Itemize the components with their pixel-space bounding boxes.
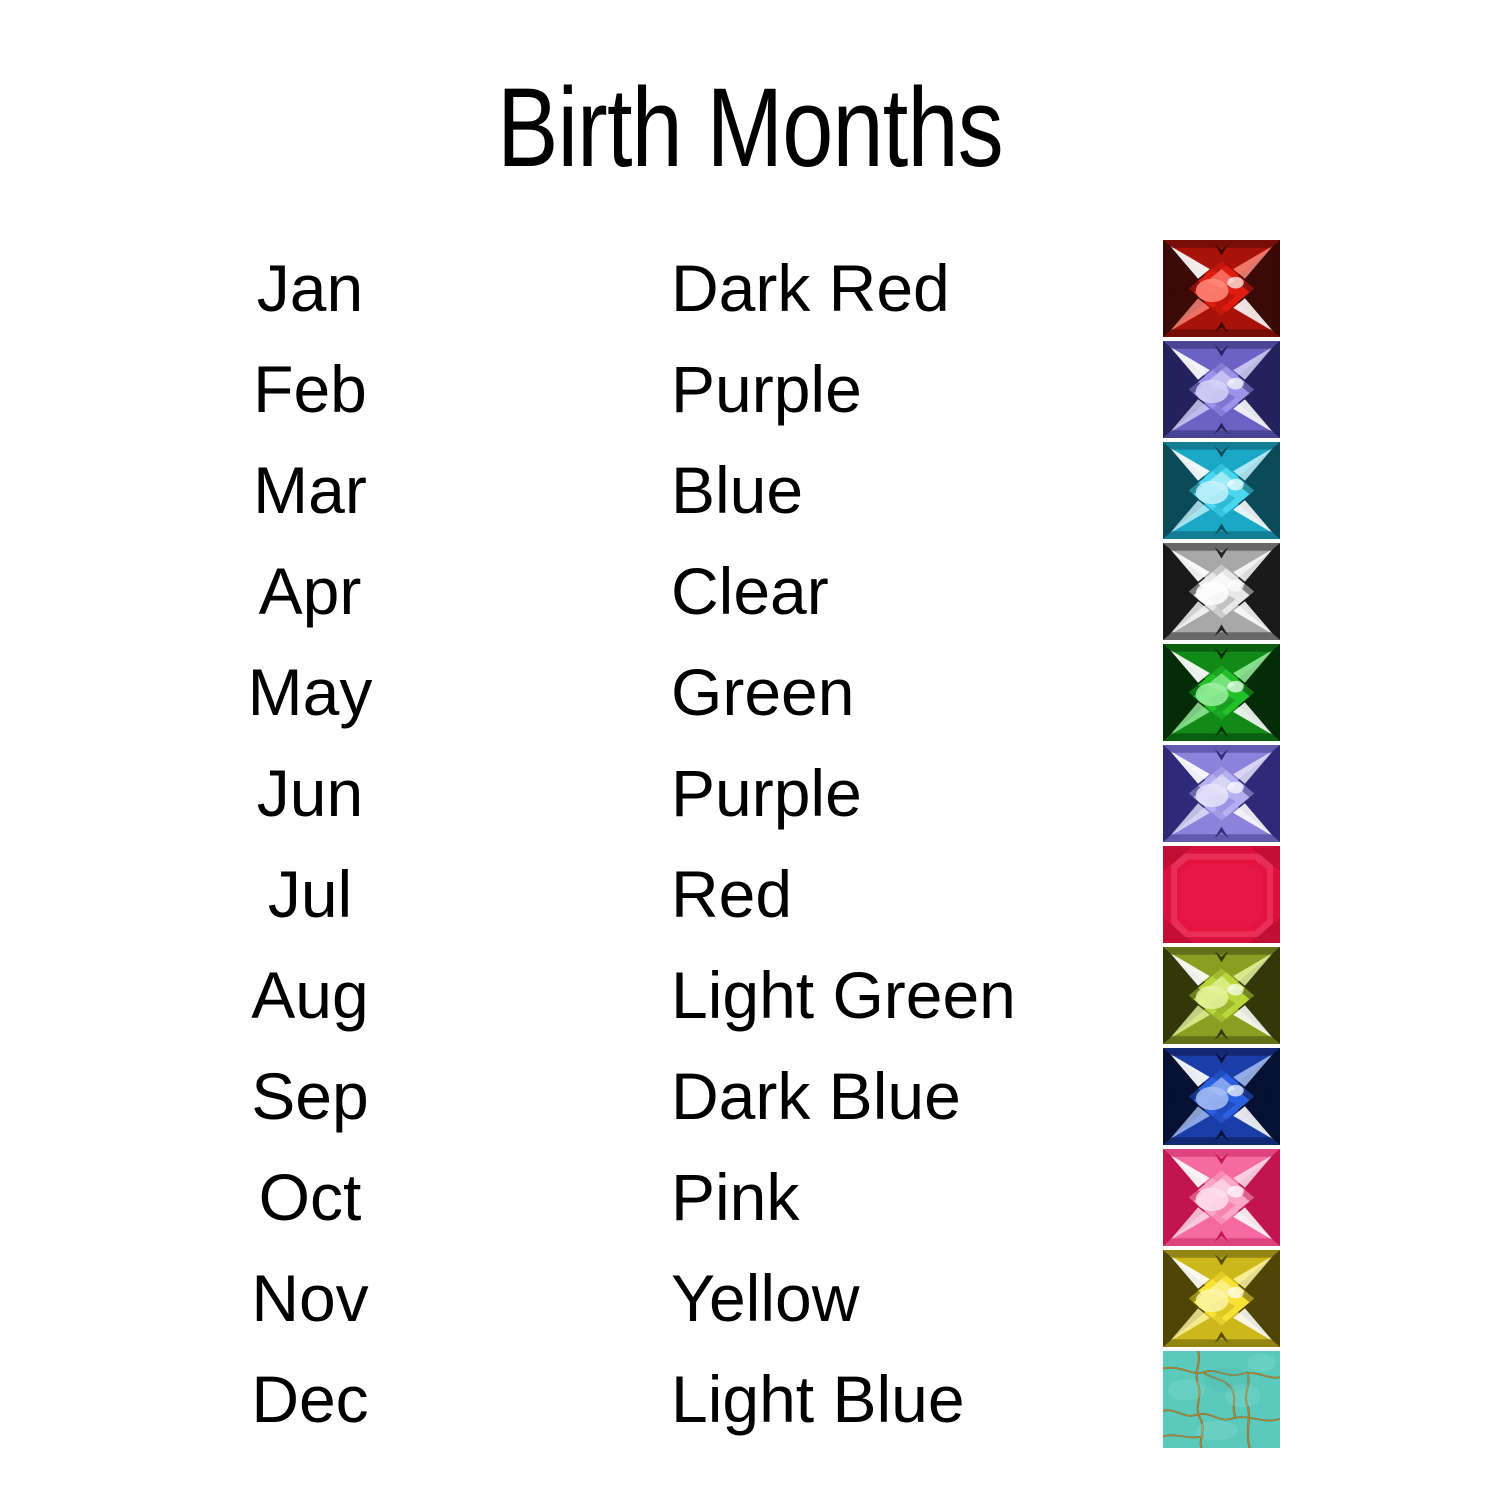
gemstone-icon xyxy=(1163,543,1280,640)
color-name-label: Green xyxy=(671,650,1141,734)
month-label: Aug xyxy=(170,953,450,1037)
month-label: Sep xyxy=(170,1054,450,1138)
birth-month-row: OctPink xyxy=(0,1147,1500,1248)
month-label: Apr xyxy=(170,549,450,633)
birth-month-row: FebPurple xyxy=(0,339,1500,440)
birth-month-row: AugLight Green xyxy=(0,945,1500,1046)
month-label: Jun xyxy=(170,751,450,835)
gemstone-icon xyxy=(1163,644,1280,741)
gemstone-icon xyxy=(1163,947,1280,1044)
month-label: Nov xyxy=(170,1256,450,1340)
gemstone-cell xyxy=(1163,644,1280,741)
month-label: Feb xyxy=(170,347,450,431)
birth-month-row: NovYellow xyxy=(0,1248,1500,1349)
month-label: Mar xyxy=(170,448,450,532)
color-name-label: Clear xyxy=(671,549,1141,633)
month-label: Jul xyxy=(170,852,450,936)
gemstone-cell xyxy=(1163,240,1280,337)
gemstone-cell xyxy=(1163,1351,1280,1448)
gemstone-cell xyxy=(1163,745,1280,842)
birth-months-list: JanDark RedFebPurpleMarBlueAprClearMayGr… xyxy=(0,238,1500,1450)
color-name-label: Yellow xyxy=(671,1256,1141,1340)
birth-month-row: JulRed xyxy=(0,844,1500,945)
gemstone-cell xyxy=(1163,442,1280,539)
gemstone-cell xyxy=(1163,543,1280,640)
birth-months-page: Birth Months JanDark RedFebPurpleMarBlue… xyxy=(0,0,1500,1500)
color-name-label: Dark Red xyxy=(671,246,1141,330)
gemstone-icon xyxy=(1163,1149,1280,1246)
gemstone-cell xyxy=(1163,341,1280,438)
birth-month-row: JunPurple xyxy=(0,743,1500,844)
month-label: Jan xyxy=(170,246,450,330)
birth-month-row: AprClear xyxy=(0,541,1500,642)
gemstone-icon xyxy=(1163,442,1280,539)
color-name-label: Dark Blue xyxy=(671,1054,1141,1138)
page-title: Birth Months xyxy=(135,72,1365,184)
color-name-label: Red xyxy=(671,852,1141,936)
color-name-label: Pink xyxy=(671,1155,1141,1239)
birth-month-row: SepDark Blue xyxy=(0,1046,1500,1147)
gemstone-icon xyxy=(1163,846,1280,943)
gemstone-cell xyxy=(1163,947,1280,1044)
gemstone-cell xyxy=(1163,1250,1280,1347)
birth-month-row: MarBlue xyxy=(0,440,1500,541)
birth-month-row: DecLight Blue xyxy=(0,1349,1500,1450)
color-name-label: Blue xyxy=(671,448,1141,532)
color-name-label: Purple xyxy=(671,347,1141,431)
month-label: Dec xyxy=(170,1357,450,1441)
gemstone-icon xyxy=(1163,341,1280,438)
birth-month-row: JanDark Red xyxy=(0,238,1500,339)
gemstone-icon xyxy=(1163,1048,1280,1145)
month-label: May xyxy=(170,650,450,734)
gemstone-cell xyxy=(1163,1149,1280,1246)
gemstone-icon xyxy=(1163,1250,1280,1347)
gemstone-cell xyxy=(1163,846,1280,943)
gemstone-cell xyxy=(1163,1048,1280,1145)
color-name-label: Light Green xyxy=(671,953,1141,1037)
birth-month-row: MayGreen xyxy=(0,642,1500,743)
month-label: Oct xyxy=(170,1155,450,1239)
gemstone-icon xyxy=(1163,240,1280,337)
gemstone-icon xyxy=(1163,745,1280,842)
color-name-label: Purple xyxy=(671,751,1141,835)
gemstone-icon xyxy=(1163,1351,1280,1448)
color-name-label: Light Blue xyxy=(671,1357,1141,1441)
